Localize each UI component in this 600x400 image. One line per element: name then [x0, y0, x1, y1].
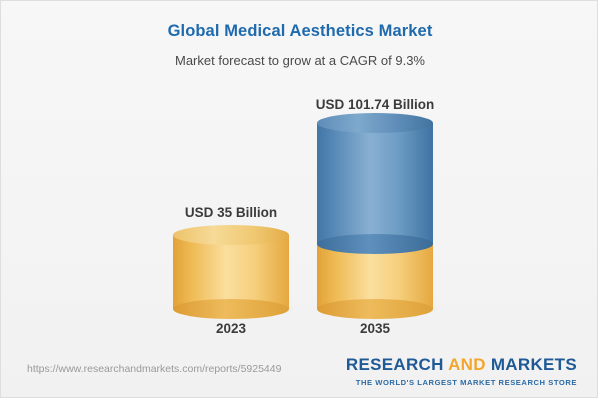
- source-url-link[interactable]: https://www.researchandmarkets.com/repor…: [27, 363, 281, 375]
- chart-card: Global Medical Aesthetics Market Market …: [0, 0, 598, 398]
- bar-segment-2035-growth: [317, 123, 433, 244]
- bar-value-label-2035: USD 101.74 Billion: [275, 97, 475, 112]
- bar-group-2023: USD 35 Billion 2023: [173, 101, 289, 353]
- bar-group-2035: USD 101.74 Billion 2035: [317, 101, 433, 353]
- logo-wordmark: RESEARCH AND MARKETS: [346, 355, 577, 375]
- bar-category-label-2035: 2035: [275, 321, 475, 336]
- cylinder-bottom-ellipse: [317, 299, 433, 319]
- cylinder-top-ellipse: [173, 225, 289, 245]
- logo-word-and: AND: [444, 355, 491, 374]
- research-and-markets-logo[interactable]: RESEARCH AND MARKETS THE WORLD'S LARGEST…: [346, 355, 577, 387]
- logo-word-research: RESEARCH: [346, 355, 444, 374]
- cylinder-body: [173, 235, 289, 309]
- cylinder-bottom-ellipse: [317, 234, 433, 254]
- chart-footer: https://www.researchandmarkets.com/repor…: [1, 351, 598, 397]
- cylinder-bottom-ellipse: [173, 299, 289, 319]
- logo-tagline: THE WORLD'S LARGEST MARKET RESEARCH STOR…: [346, 378, 577, 387]
- logo-word-markets: MARKETS: [491, 355, 577, 374]
- bar-value-label-2023: USD 35 Billion: [131, 205, 331, 220]
- chart-plot-area: USD 35 Billion 2023 USD 101.74 Billion: [1, 1, 598, 353]
- cylinder-top-ellipse: [317, 113, 433, 133]
- bar-segment-2023-base: [173, 235, 289, 309]
- cylinder-body: [317, 123, 433, 244]
